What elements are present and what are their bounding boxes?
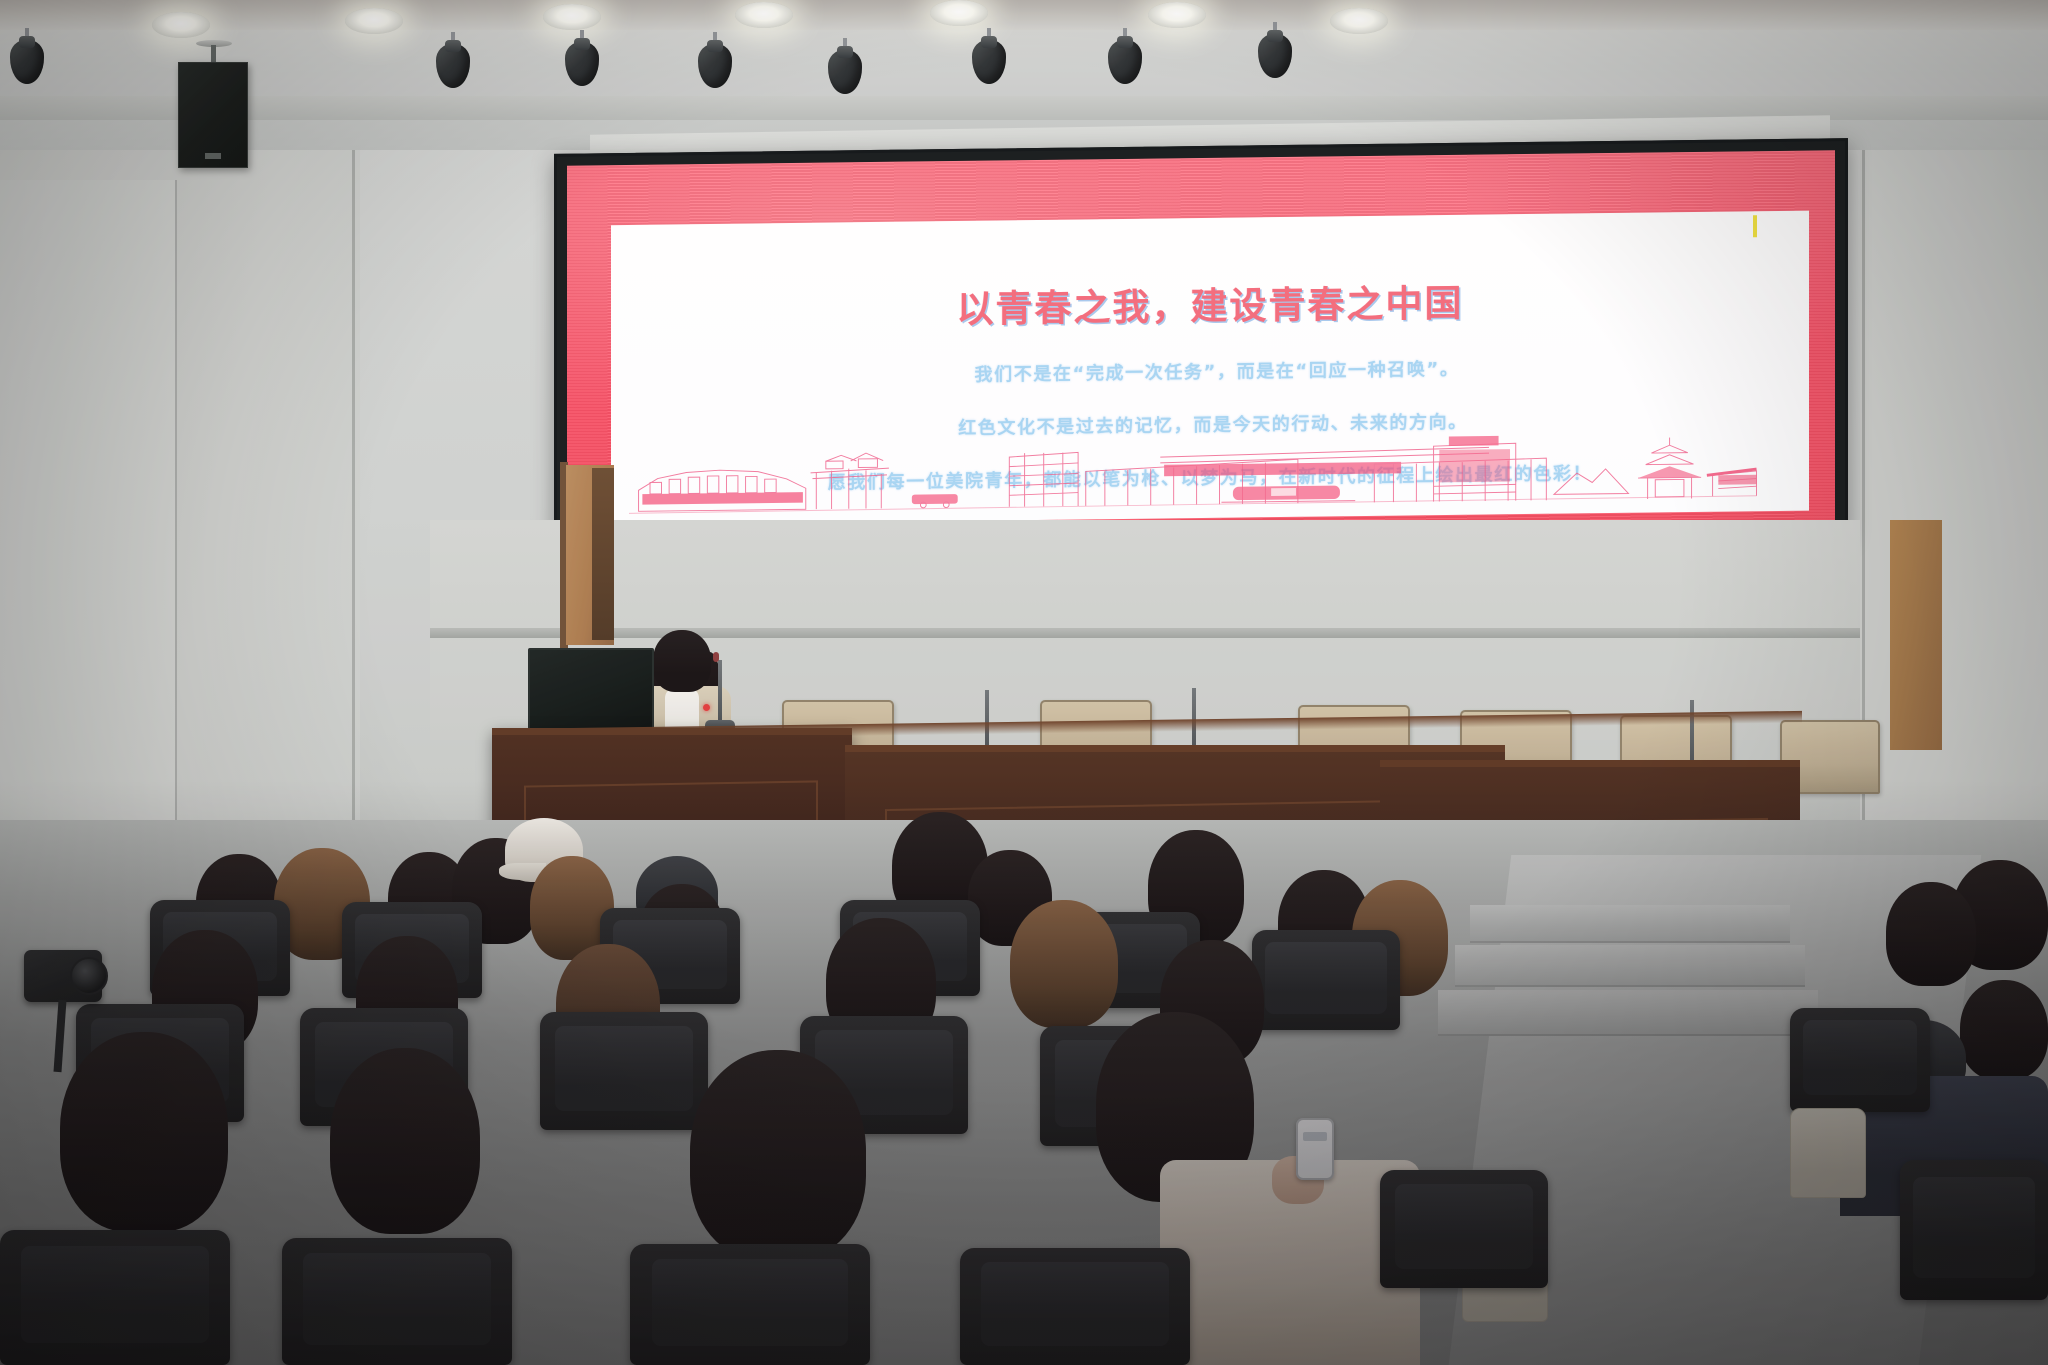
audience-seat[interactable] xyxy=(960,1248,1190,1365)
audience-seat[interactable] xyxy=(1252,930,1400,1030)
ceiling-downlight xyxy=(735,2,793,28)
track-spotlight xyxy=(972,28,1006,84)
audience-head xyxy=(1960,980,2048,1080)
side-door-opening xyxy=(592,468,614,640)
auditorium-photo: 以青春之我，建设青春之中国 我们不是在“完成一次任务”，而是在“回应一种召唤”。… xyxy=(0,0,2048,1365)
slide-title: 以青春之我，建设青春之中国 xyxy=(611,269,1809,338)
audience-head xyxy=(60,1032,228,1232)
right-door[interactable] xyxy=(1890,520,1942,750)
microphone-indicator xyxy=(713,652,719,662)
ceiling-downlight xyxy=(345,8,403,34)
stage-step xyxy=(1455,945,1805,987)
track-spotlight xyxy=(565,30,599,86)
wall-joint-left xyxy=(352,60,355,820)
stage-step xyxy=(1438,990,1818,1036)
slide-line-1: 我们不是在“完成一次任务”，而是在“回应一种召唤”。 xyxy=(611,351,1809,392)
track-spotlight xyxy=(1108,28,1142,84)
presenter-badge xyxy=(703,704,710,711)
ceiling-speaker xyxy=(178,62,248,168)
right-wall xyxy=(1860,60,2048,880)
audience-seat[interactable] xyxy=(1380,1170,1548,1288)
audience-head xyxy=(1010,900,1118,1028)
audience-seat[interactable] xyxy=(630,1244,870,1365)
presentation-slide: 以青春之我，建设青春之中国 我们不是在“完成一次任务”，而是在“回应一种召唤”。… xyxy=(611,211,1809,526)
track-spotlight xyxy=(1258,22,1292,78)
ceiling-downlight xyxy=(1330,8,1388,34)
ceiling-downlight xyxy=(152,12,210,38)
audience-seat[interactable] xyxy=(540,1012,708,1130)
track-spotlight xyxy=(436,32,470,88)
ceiling-downlight xyxy=(930,0,988,26)
audience-head xyxy=(330,1048,480,1234)
audience-seat[interactable] xyxy=(282,1238,512,1365)
speaker-mount xyxy=(196,40,232,64)
ceiling-edge xyxy=(0,0,2048,30)
audience-bag xyxy=(1790,1108,1866,1198)
stage-step xyxy=(1470,905,1790,943)
audience-seat[interactable] xyxy=(1900,1160,2048,1300)
ceiling-downlight xyxy=(543,4,601,30)
slide-marker xyxy=(1753,215,1757,237)
presenter-hair xyxy=(653,630,711,692)
track-spotlight xyxy=(10,28,44,84)
audience-phone[interactable] xyxy=(1296,1118,1334,1180)
podium-monitor xyxy=(528,648,654,734)
landmark-illustration xyxy=(629,421,1757,521)
audience-seat[interactable] xyxy=(0,1230,230,1365)
track-spotlight xyxy=(828,38,862,94)
video-camera xyxy=(24,950,102,1002)
track-spotlight xyxy=(698,32,732,88)
audience-seat[interactable] xyxy=(1790,1008,1930,1112)
audience-head xyxy=(690,1050,866,1260)
ceiling-downlight xyxy=(1148,2,1206,28)
podium-microphone xyxy=(718,660,722,726)
led-panel: 以青春之我，建设青春之中国 我们不是在“完成一次任务”，而是在“回应一种召唤”。… xyxy=(567,150,1835,537)
audience-head xyxy=(1886,882,1976,986)
left-wall-panel xyxy=(0,180,177,820)
led-screen[interactable]: 以青春之我，建设青春之中国 我们不是在“完成一次任务”，而是在“回应一种召唤”。… xyxy=(554,138,1848,550)
